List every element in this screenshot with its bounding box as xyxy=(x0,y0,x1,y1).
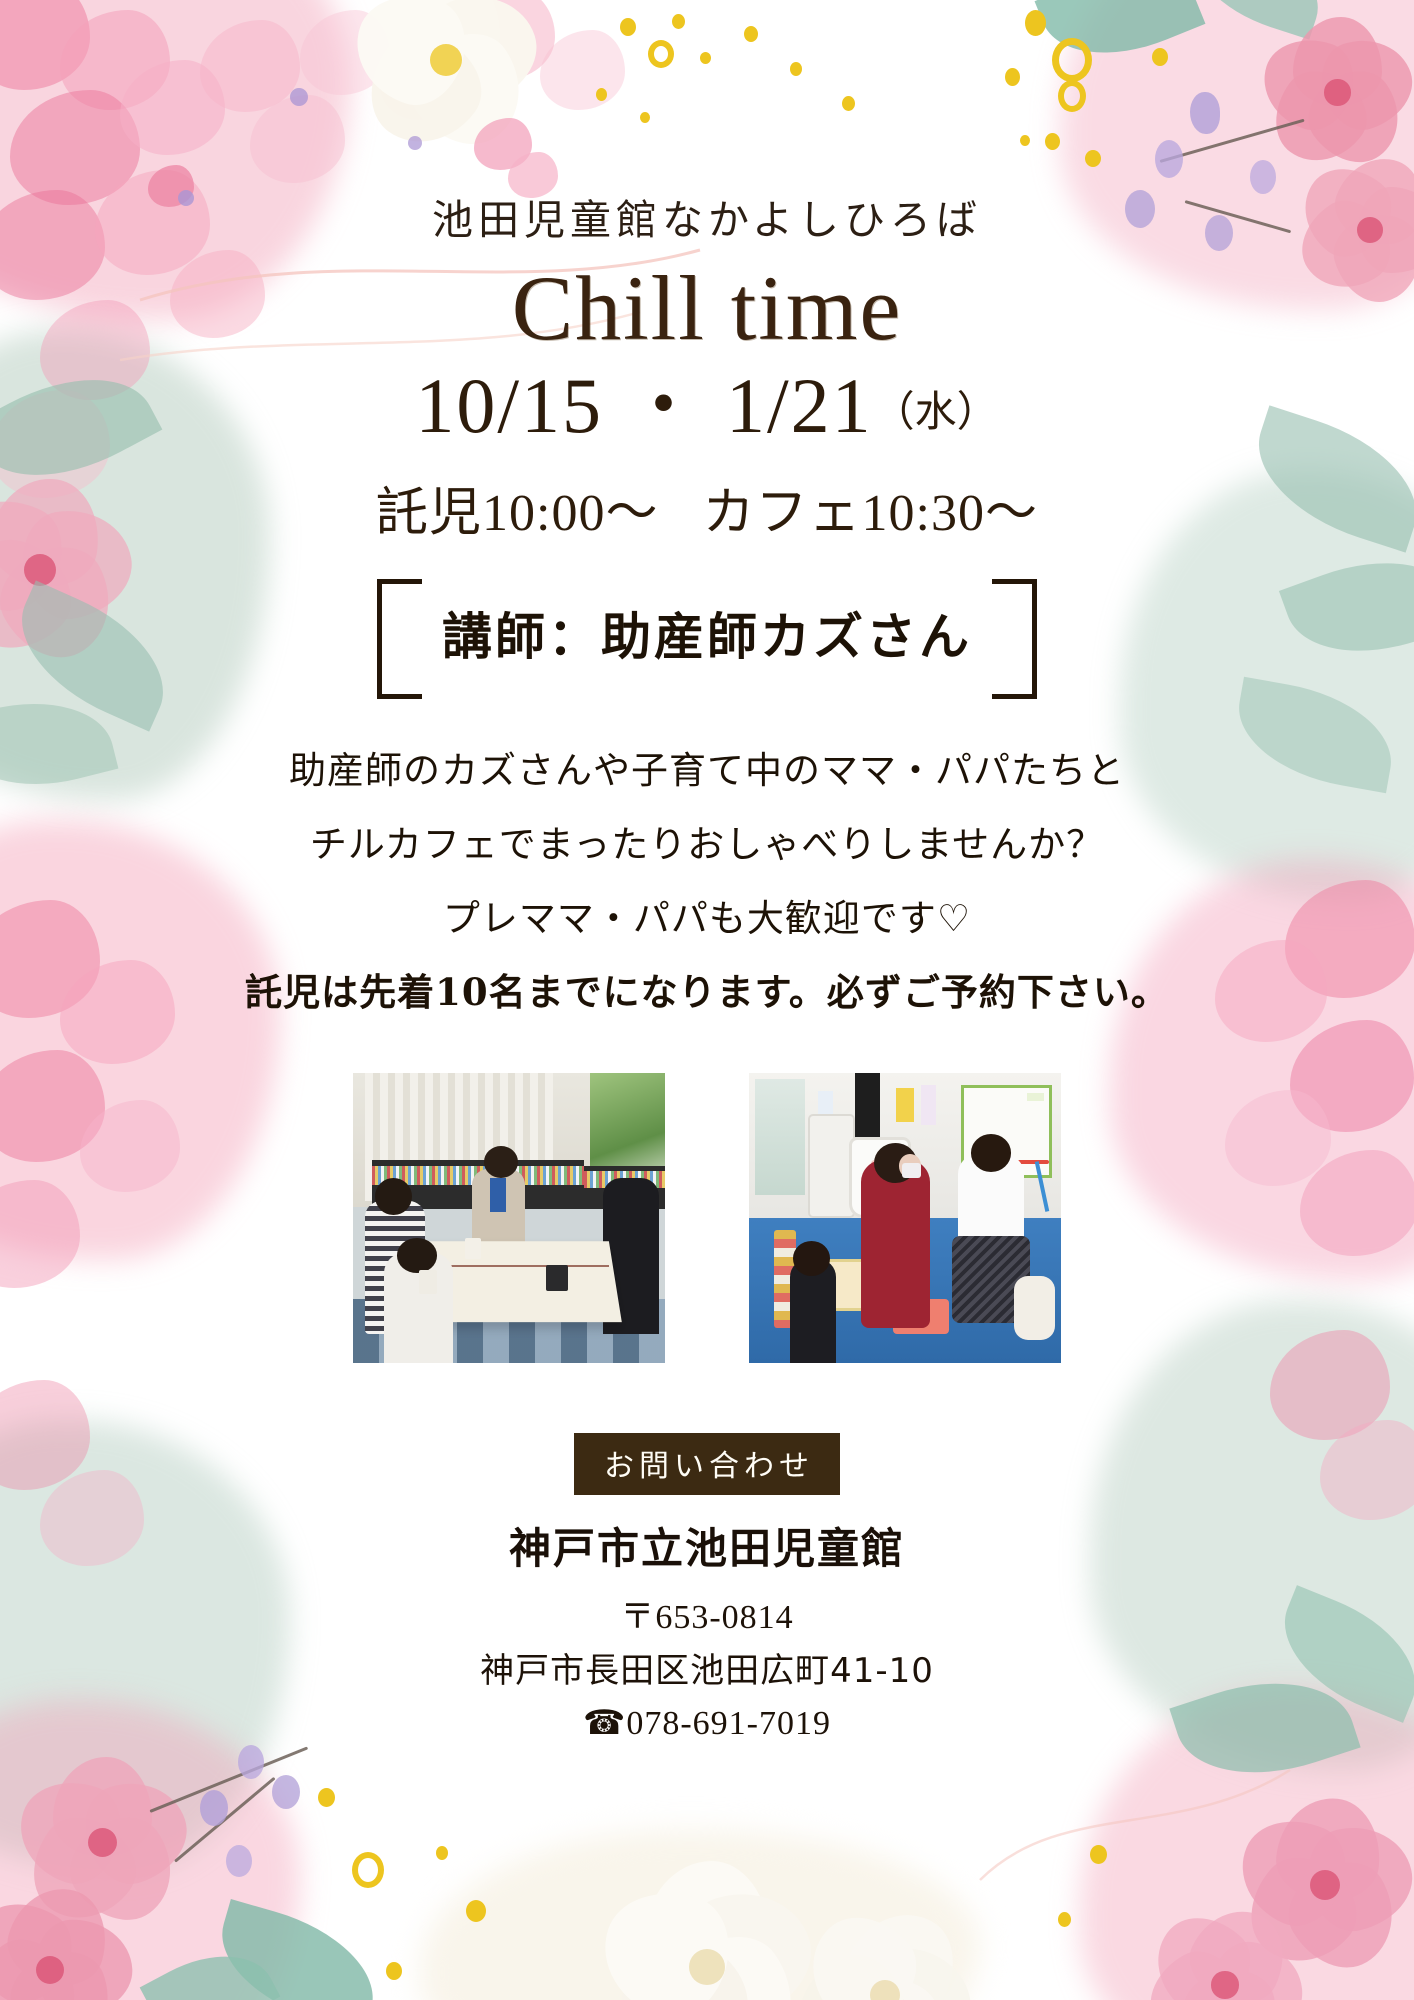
street-address: 神戸市長田区池田広町41-10 xyxy=(0,1645,1414,1698)
lavender-bud xyxy=(272,1775,300,1809)
cherry-blossom-flower xyxy=(10,1750,195,1935)
branch-stem xyxy=(149,1746,308,1812)
lavender-bud xyxy=(200,1790,228,1826)
childcare-time: 託児10:00〜 xyxy=(376,485,658,542)
wash-cream-bottom xyxy=(420,1830,980,2000)
phone-number[interactable]: ☎078-691-7019 xyxy=(0,1698,1414,1751)
photo-gallery xyxy=(353,1073,1061,1363)
event-description: 助産師のカズさんや子育て中のママ・パパたちと チルカフェでまったりおしゃべりしま… xyxy=(0,741,1414,1023)
accent-dot xyxy=(1058,1912,1071,1927)
leaf-shape xyxy=(206,1899,390,2000)
description-line-4: 託児は先着10名までになります。必ずご予約下さい。 xyxy=(0,963,1414,1023)
poster-subtitle: 池田児童館なかよしひろば xyxy=(0,0,1414,246)
event-dates: 10/15 ・ 1/21（水） xyxy=(0,363,1414,449)
poster-root: 池田児童館なかよしひろば Chill time 10/15 ・ 1/21（水） … xyxy=(0,0,1414,2000)
library-discussion-photo xyxy=(353,1073,665,1363)
description-line-2: チルカフェでまったりおしゃべりしませんか？ xyxy=(0,815,1414,875)
speaker-name: 講師：助産師カズさん xyxy=(377,597,1037,669)
contact-badge: お問い合わせ xyxy=(574,1433,840,1495)
leaf-shape xyxy=(140,1931,281,2000)
accent-dot xyxy=(318,1788,335,1807)
accent-dot xyxy=(466,1900,486,1922)
speaker-bracket-box: 講師：助産師カズさん xyxy=(377,579,1037,689)
organization-name: 神戸市立池田児童館 xyxy=(0,1515,1414,1576)
poster-content: 池田児童館なかよしひろば Chill time 10/15 ・ 1/21（水） … xyxy=(0,0,1414,1750)
event-day-of-week: （水） xyxy=(873,390,999,436)
cherry-blossom-flower xyxy=(1140,1900,1310,2000)
branch-stem xyxy=(174,1777,276,1863)
accent-ring xyxy=(352,1852,384,1888)
description-line-1: 助産師のカズさんや子育て中のママ・パパたちと xyxy=(0,741,1414,801)
page-title: Chill time xyxy=(0,260,1414,357)
event-dates-value: 10/15 ・ 1/21 xyxy=(415,362,872,449)
white-camellia-flower xyxy=(592,1852,822,2000)
lavender-bud xyxy=(226,1845,252,1877)
postal-code: 〒653-0814 xyxy=(0,1592,1414,1645)
accent-dot xyxy=(1090,1845,1107,1864)
cherry-blossom-flower xyxy=(0,1880,140,2000)
contact-address-block: 〒653-0814 神戸市長田区池田広町41-10 ☎078-691-7019 xyxy=(0,1592,1414,1750)
event-times: 託児10:00〜カフェ10:30〜 xyxy=(0,470,1414,545)
playroom-childcare-photo xyxy=(749,1073,1061,1363)
accent-dot xyxy=(386,1962,402,1980)
description-line-3: プレママ・パパも大歓迎です♡ xyxy=(0,889,1414,949)
accent-dot xyxy=(436,1846,448,1860)
contact-section: お問い合わせ 神戸市立池田児童館 〒653-0814 神戸市長田区池田広町41-… xyxy=(0,1433,1414,1750)
white-camellia-flower xyxy=(790,1900,980,2000)
cafe-time: カフェ10:30〜 xyxy=(703,485,1038,542)
cherry-blossom-flower xyxy=(1230,1790,1414,1980)
